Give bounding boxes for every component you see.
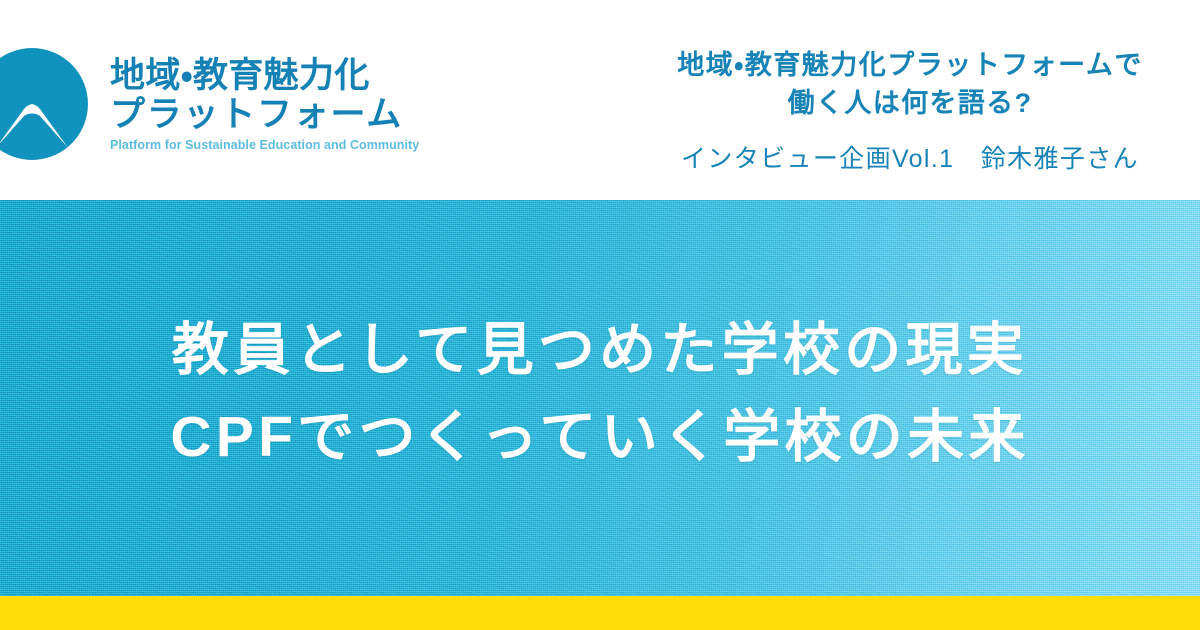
- header-headline-line-1: 地域・教育魅力化プラットフォームで: [600, 46, 1200, 84]
- header-band: 地域・教育魅力化 プラットフォーム Platform for Sustainab…: [0, 0, 1200, 200]
- hero-title-line-2: CPFでつくっていく学校の未来: [170, 394, 1029, 481]
- brand-tagline: Platform for Sustainable Education and C…: [110, 138, 419, 152]
- brand-wordmark-line-1: 地域・教育魅力化: [110, 56, 419, 95]
- header-copy: 地域・教育魅力化プラットフォームで 働く人は何を語る? インタビュー企画Vol.…: [600, 46, 1200, 175]
- hero-title: 教員として見つめた学校の現実 CPFでつくっていく学校の未来: [0, 200, 1200, 596]
- hero-title-line-1: 教員として見つめた学校の現実: [172, 307, 1028, 394]
- platform-logo-icon: [0, 34, 102, 174]
- hero-banner: 教員として見つめた学校の現実 CPFでつくっていく学校の未来: [0, 200, 1200, 596]
- brand-wordmark-line-2: プラットフォーム: [110, 95, 419, 134]
- header-headline-line-2: 働く人は何を語る?: [600, 84, 1200, 122]
- brand-wordmark: 地域・教育魅力化 プラットフォーム Platform for Sustainab…: [110, 56, 419, 152]
- header-subline: インタビュー企画Vol.1 鈴木雅子さん: [600, 143, 1200, 176]
- footer-accent-bar: [0, 596, 1200, 630]
- brand-logo[interactable]: 地域・教育魅力化 プラットフォーム Platform for Sustainab…: [0, 34, 419, 174]
- ogp-card: 地域・教育魅力化 プラットフォーム Platform for Sustainab…: [0, 0, 1200, 630]
